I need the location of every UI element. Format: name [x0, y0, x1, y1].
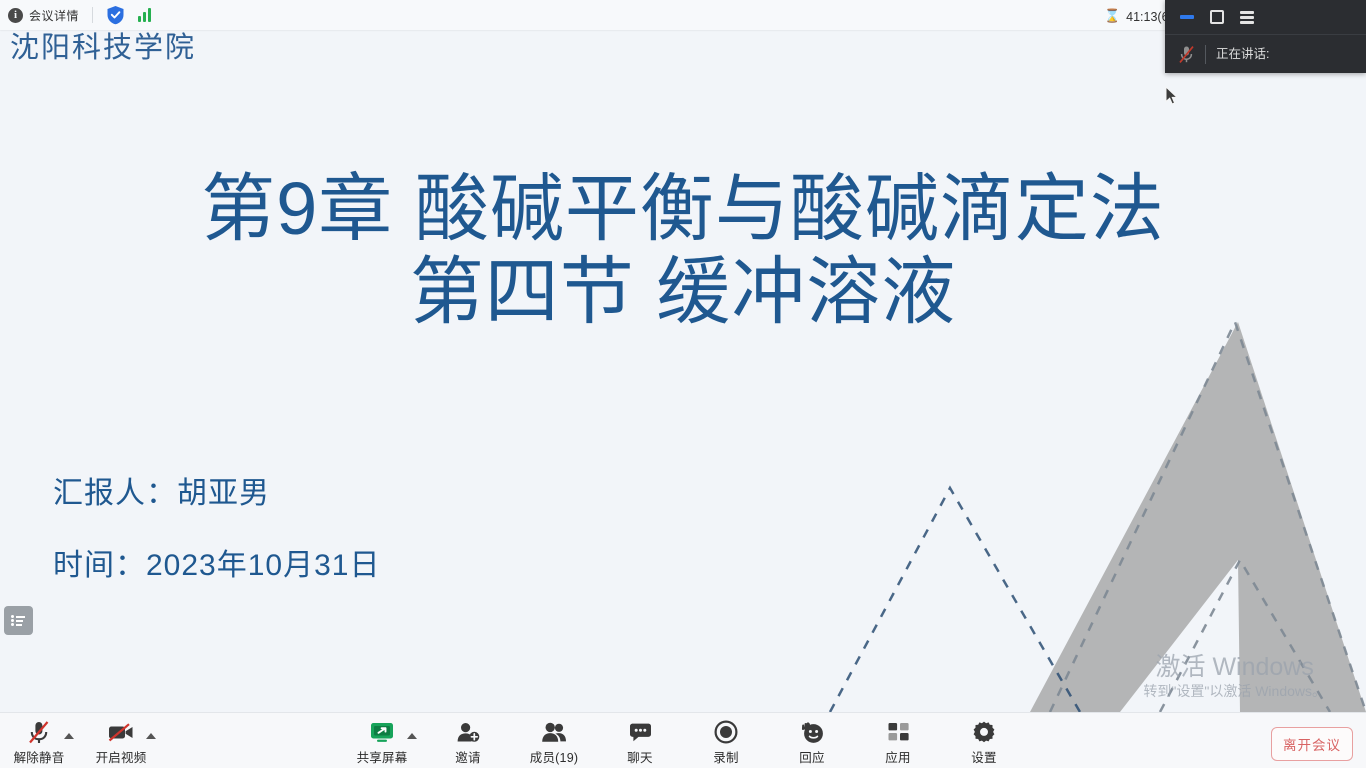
meeting-top-bar: i 会议详情 ⌛ 41:13(60分 [0, 0, 1366, 30]
leave-meeting-button[interactable]: 离开会议 [1271, 727, 1353, 761]
settings-button[interactable]: 设置 [953, 713, 1015, 768]
apps-grid-icon [887, 719, 910, 745]
signal-bars-icon[interactable] [138, 8, 151, 22]
title-line-1: 第9章 酸碱平衡与酸碱滴定法 [0, 168, 1366, 251]
hamburger-menu-icon[interactable] [1238, 9, 1255, 26]
toolbar-label: 回应 [799, 747, 824, 766]
record-button[interactable]: 录制 [695, 713, 757, 768]
date-label: 时间：2023年10月31日 [53, 540, 380, 584]
toolbar-label: 邀请 [455, 747, 480, 766]
toolbar-label: 成员(19) [530, 747, 578, 766]
institution-logo: 沈阳科技学院 [10, 24, 196, 66]
chat-button[interactable]: 聊天 [609, 713, 671, 768]
maximize-icon[interactable] [1208, 9, 1225, 26]
toolbar-label: 录制 [713, 747, 738, 766]
gear-icon [972, 719, 996, 745]
apps-button[interactable]: 应用 [867, 713, 929, 768]
toolbar-center-group: 共享屏幕 邀请 [0, 713, 1366, 768]
window-controls-row [1165, 0, 1366, 34]
participants-icon [541, 719, 567, 745]
share-screen-button[interactable]: 共享屏幕 [351, 713, 413, 768]
meeting-detail-label[interactable]: 会议详情 [29, 7, 79, 24]
page-title: 第9章 酸碱平衡与酸碱滴定法 第四节 缓冲溶液 [0, 168, 1366, 334]
invite-person-icon [456, 719, 480, 745]
list-menu-icon [11, 615, 26, 626]
toolbar-label: 聊天 [627, 747, 652, 766]
shared-screen-slide: 沈阳科技学院 第9章 酸碱平衡与酸碱滴定法 第四节 缓冲溶液 汇报人：胡亚男 时… [0, 0, 1366, 712]
minimize-icon[interactable] [1178, 9, 1195, 26]
share-screen-icon [369, 719, 395, 745]
speaking-label: 正在讲话: [1205, 45, 1269, 64]
toolbar-label: 应用 [885, 747, 910, 766]
reaction-button[interactable]: 回应 [781, 713, 843, 768]
record-circle-icon [714, 719, 738, 745]
mountain-decoration-graphic [0, 0, 1366, 712]
microphone-muted-icon[interactable] [1178, 45, 1195, 64]
chat-bubble-icon [628, 719, 653, 745]
divider [92, 7, 93, 23]
toolbar-label: 共享屏幕 [357, 747, 408, 766]
presenter-label: 汇报人：胡亚男 [53, 468, 270, 512]
info-circle-icon[interactable]: i [8, 8, 23, 23]
chevron-up-icon[interactable] [407, 733, 417, 739]
shield-check-icon[interactable] [106, 5, 125, 25]
meeting-toolbar: 解除静音 开启视频 [0, 712, 1366, 768]
floating-control-overlay: 正在讲话: [1165, 0, 1366, 73]
title-line-2: 第四节 缓冲溶液 [0, 251, 1366, 334]
speaking-status-row: 正在讲话: [1165, 34, 1366, 73]
participants-button[interactable]: 成员(19) [523, 713, 585, 768]
reaction-emoji-icon [800, 719, 825, 745]
hourglass-icon: ⌛ [1104, 9, 1120, 22]
invite-button[interactable]: 邀请 [437, 713, 499, 768]
toolbar-label: 设置 [971, 747, 996, 766]
mouse-cursor [1165, 86, 1179, 106]
slide-list-button[interactable] [4, 606, 33, 635]
